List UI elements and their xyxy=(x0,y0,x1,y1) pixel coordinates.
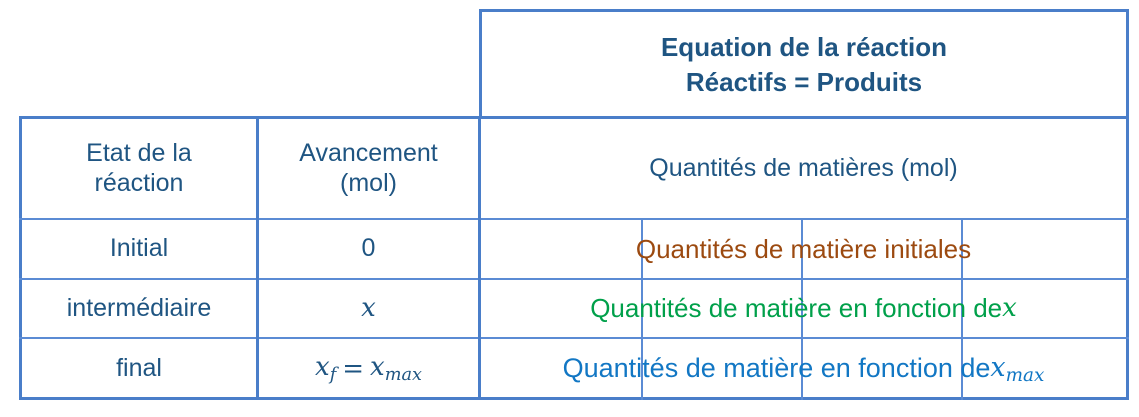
row-quantities-final-x: x xyxy=(990,352,1005,383)
row-quantities-final-text: Quantités de matière en fonction de xyxy=(563,353,991,385)
equation-header-line-2: Réactifs = Produits xyxy=(686,67,922,98)
row-quantities-final-sub-max: max xyxy=(1006,365,1045,386)
equation-header-block: Equation de la réaction Réactifs = Produ… xyxy=(479,9,1129,117)
row-quantities-intermediaire: Quantités de matière en fonction de x xyxy=(481,280,1126,337)
row-quantities-final: Quantités de matière en fonction de xmax xyxy=(481,339,1126,399)
column-divider-etat-avancement xyxy=(256,116,259,400)
row-quantities-final-math-xmax: xmax xyxy=(990,352,1044,387)
row-quantities-intermediaire-math-x: x xyxy=(1002,293,1017,324)
row-quantities-intermediaire-text: Quantités de matière en fonction de xyxy=(590,293,1002,324)
reaction-advancement-table: Equation de la réaction Réactifs = Produ… xyxy=(0,0,1139,417)
equation-header-line-1: Equation de la réaction xyxy=(661,32,947,63)
row-quantities-initial: Quantités de matière initiales xyxy=(481,220,1126,278)
